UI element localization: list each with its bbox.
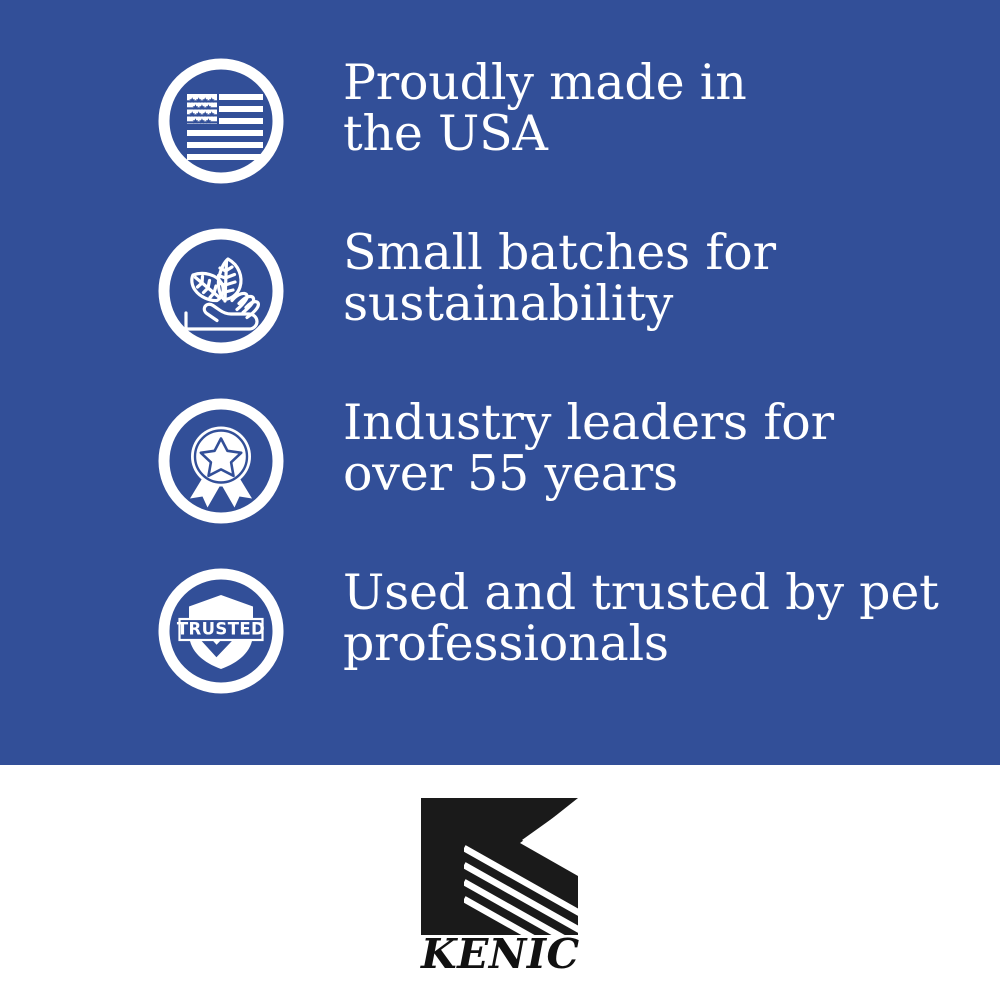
feature-label-small-batches: Small batches for sustainability: [343, 214, 1000, 330]
hand-holding-leaf-icon: [157, 227, 285, 355]
feature-item-industry-leaders: Industry leaders for over 55 years: [0, 384, 1000, 554]
trusted-badge-label: TRUSTED: [177, 620, 265, 639]
kenic-wordmark: KENIC: [421, 934, 578, 975]
usa-flag-icon: [157, 57, 285, 185]
feature-item-small-batches: Small batches for sustainability: [0, 214, 1000, 384]
promo-banner: Proudly made in the USA: [0, 0, 1000, 1000]
trusted-shield-icon: TRUSTED: [157, 567, 285, 695]
logo-strip: KENIC: [0, 765, 1000, 1000]
feature-panel: Proudly made in the USA: [0, 0, 1000, 765]
feature-label-industry-leaders: Industry leaders for over 55 years: [343, 384, 1000, 500]
award-ribbon-star-icon: [157, 397, 285, 525]
feature-label-made-in-usa: Proudly made in the USA: [343, 44, 1000, 160]
kenic-logo: KENIC: [421, 798, 581, 968]
feature-item-pet-professionals: TRUSTED Used and trusted by pet professi…: [0, 554, 1000, 724]
feature-item-made-in-usa: Proudly made in the USA: [0, 44, 1000, 214]
kenic-logo-mark: [421, 798, 578, 935]
feature-label-pet-professionals: Used and trusted by pet professionals: [343, 554, 1000, 670]
feature-list: Proudly made in the USA: [0, 44, 1000, 724]
